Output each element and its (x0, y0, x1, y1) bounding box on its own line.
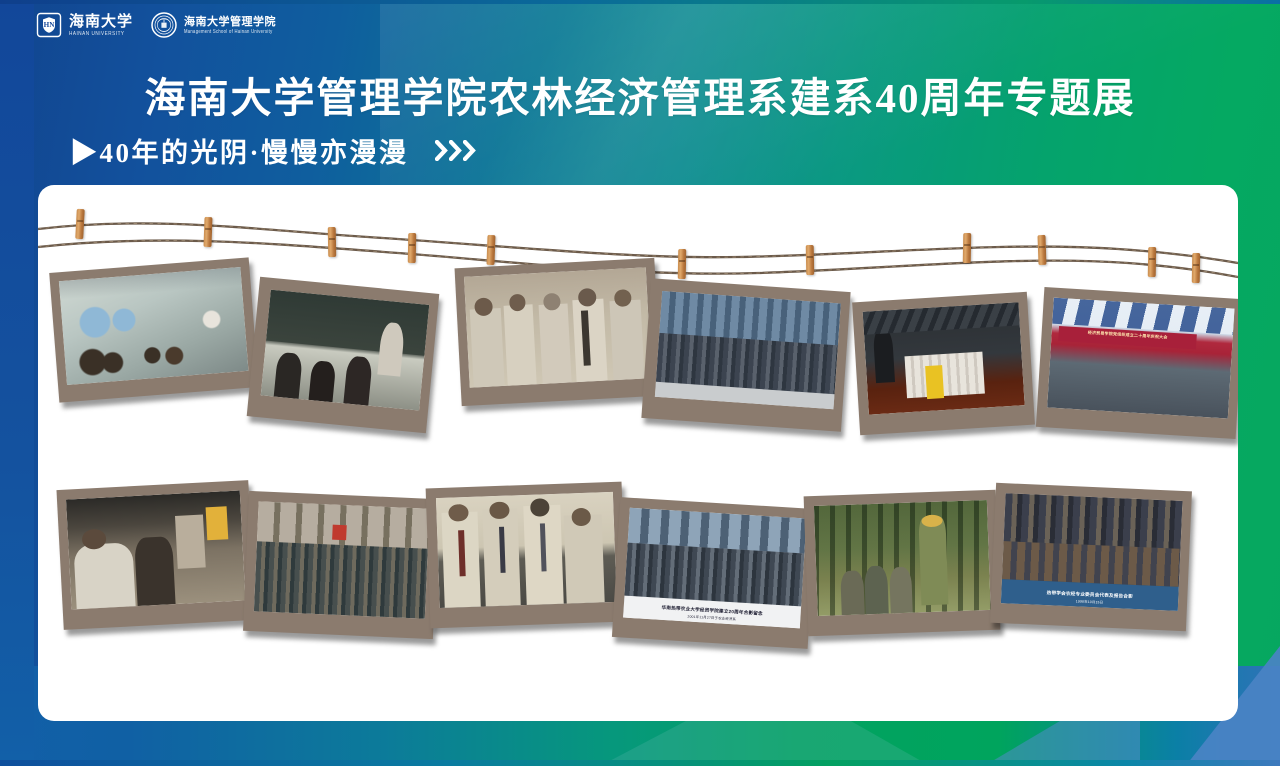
photo-detail (840, 570, 864, 615)
chevron-right-icon (449, 140, 462, 161)
clothespin-icon (486, 235, 495, 265)
gallery-photo[interactable] (455, 258, 662, 406)
gallery-photo[interactable] (641, 278, 850, 432)
management-school-logo-text: 海南大学管理学院 Management School of Hainan Uni… (184, 17, 276, 34)
photo-inner (655, 291, 841, 409)
photo-detail (609, 300, 644, 380)
clothespin-icon (1192, 253, 1201, 283)
gallery-photo[interactable] (426, 482, 627, 629)
chevron-right-icon (463, 140, 476, 161)
photo-inner (436, 492, 617, 608)
photo-detail (925, 365, 944, 399)
photo-inner (863, 302, 1025, 414)
clothespin-icon (75, 209, 85, 239)
gallery-photo[interactable] (243, 491, 439, 639)
gallery-photo[interactable] (804, 490, 1001, 637)
photo-detail (469, 308, 504, 387)
photo-detail (865, 565, 889, 614)
clothespin-icon (806, 245, 815, 275)
photo-detail (614, 289, 631, 306)
svg-text:HN: HN (44, 21, 56, 29)
photo-detail (308, 360, 336, 402)
gallery-photo[interactable]: 热带学会农经专业委员会代表及报告合影 1998年10月15日 (990, 483, 1192, 631)
photo-inner: 热带学会农经专业委员会代表及报告合影 1998年10月15日 (1001, 493, 1183, 611)
photo-detail (1004, 493, 1183, 549)
clothespin-icon (1148, 247, 1157, 277)
chevron-right-icon-group (435, 140, 476, 161)
photo-detail (509, 294, 526, 311)
management-school-name-cn: 海南大学管理学院 (184, 17, 276, 29)
photo-detail (489, 501, 509, 519)
photo-inner: 经济贸易学院党组织成立二十周年庆祝大会 (1047, 298, 1234, 419)
page-title: 海南大学管理学院农林经济管理系建系40周年专题展 (0, 64, 1280, 124)
photo-detail (273, 352, 303, 399)
photo-inner (254, 501, 430, 618)
photo-detail (332, 524, 346, 540)
shield-crest-icon: HN (36, 12, 62, 38)
management-school-name-en: Management School of Hainan University (184, 28, 276, 35)
photo-inner (59, 267, 249, 385)
photo-detail (578, 288, 597, 307)
management-school-logo: 海南大学管理学院 Management School of Hainan Uni… (151, 12, 276, 38)
subtitle-marker: ▶ (70, 138, 100, 168)
hainan-university-logo-text: 海南大学 HAINAN UNIVERSITY (69, 14, 133, 35)
logo-bar: HN 海南大学 HAINAN UNIVERSITY (36, 12, 276, 38)
photo-detail (573, 298, 608, 382)
photo-inner (261, 290, 429, 411)
hainan-university-name-cn: 海南大学 (69, 14, 133, 30)
photo-inner (464, 267, 652, 387)
photo-image (59, 267, 249, 385)
photo-detail (905, 352, 985, 398)
photo-detail (564, 514, 604, 603)
subtitle-text: ▶40年的光阴·慢慢亦漫漫 (70, 131, 409, 170)
gallery-photo[interactable] (49, 257, 259, 402)
clothespin-icon (203, 217, 212, 247)
photo-inner (814, 500, 991, 616)
gallery-photo[interactable] (247, 277, 440, 434)
photo-detail (175, 515, 206, 569)
gallery-photo[interactable]: 华南热带农业大学经贸学院建立20周年合影留念 2001年11月27日于农业经济系 (612, 497, 816, 649)
photo-detail (134, 536, 176, 606)
hainan-university-logo: HN 海南大学 HAINAN UNIVERSITY (36, 12, 133, 38)
clothespin-icon (328, 227, 337, 257)
clothespin-icon (408, 233, 417, 263)
clothespin-icon (678, 249, 687, 279)
subtitle-row: ▶40年的光阴·慢慢亦漫漫 (70, 131, 476, 170)
photo-detail (504, 304, 537, 385)
photo-detail (538, 304, 571, 384)
photo-detail (1047, 359, 1231, 418)
gallery-photo[interactable] (56, 480, 255, 630)
photo-detail (206, 507, 229, 541)
circular-seal-icon (151, 12, 177, 38)
gallery-photo[interactable] (852, 292, 1035, 435)
photo-detail (918, 517, 949, 606)
background-top-edge (0, 0, 1280, 4)
photo-detail (74, 542, 136, 609)
photo-detail (543, 293, 560, 310)
clothespin-icon (1037, 235, 1046, 265)
photo-detail (889, 566, 913, 613)
photo-inner: 华南热带农业大学经贸学院建立20周年合影留念 2001年11月27日于农业经济系 (623, 508, 806, 629)
chevron-right-icon (435, 140, 448, 161)
photo-inner (66, 491, 246, 610)
background-bottom-edge (0, 760, 1280, 766)
gallery-photo[interactable]: 经济贸易学院党组织成立二十周年庆祝大会 (1036, 287, 1238, 439)
subtitle-label: 40年的光阴·慢慢亦漫漫 (100, 138, 409, 168)
gallery-card: 经济贸易学院党组织成立二十周年庆祝大会 (38, 185, 1238, 721)
hainan-university-name-en: HAINAN UNIVERSITY (69, 30, 133, 37)
photo-detail (254, 541, 428, 619)
clothespin-icon (963, 233, 972, 263)
presentation-slide: HN 海南大学 HAINAN UNIVERSITY (0, 0, 1280, 766)
